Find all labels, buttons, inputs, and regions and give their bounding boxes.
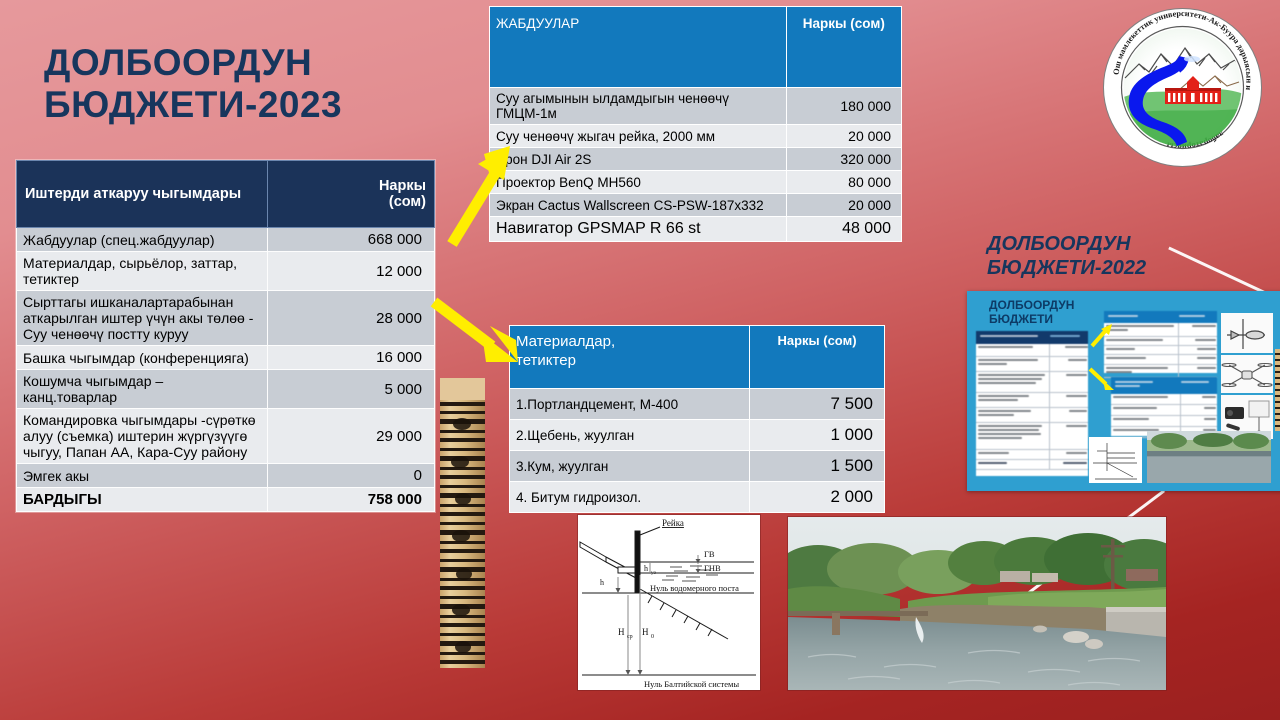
table-row: 4. Битум гидроизол.2 000 <box>510 482 885 513</box>
equipment-row-value: 80 000 <box>786 171 901 194</box>
materials-header-cost: Наркы (сом) <box>750 326 885 389</box>
thumbnail-measuring-staff <box>1275 349 1280 431</box>
page-title-line1: ДОЛБООРДУН <box>44 42 444 84</box>
equipment-table-body: Суу агымынын ылдамдыгын ченөөчү ГМЦМ-1м1… <box>490 88 902 242</box>
table-row: Башка чыгымдар (конференцияга)16 000 <box>17 346 435 370</box>
gauge-label-h-sub: h <box>644 564 648 573</box>
materials-header-line1: Материалдар, <box>516 333 743 352</box>
budget-row-label: Башка чыгымдар (конференцияга) <box>17 346 268 370</box>
budget-row-label: БАРДЫГЫ <box>17 488 268 512</box>
equipment-table-header-row: ЖАБДУУЛАР Наркы (сом) <box>490 7 902 88</box>
budget-row-label: Сырттагы ишканалартарабынан аткарылган и… <box>17 291 268 346</box>
equipment-row-value: 180 000 <box>786 88 901 125</box>
budget-header-cost: Наркы (сом) <box>267 161 434 228</box>
page-title-line2: БЮДЖЕТИ-2023 <box>44 84 444 126</box>
equipment-row-value: 20 000 <box>786 125 901 148</box>
table-row: 2.Щебень, жуулган1 000 <box>510 420 885 451</box>
equipment-row-value: 20 000 <box>786 194 901 217</box>
table-row: БАРДЫГЫ758 000 <box>17 488 435 512</box>
budget-row-value: 12 000 <box>267 252 434 291</box>
materials-table: Материалдар, тетиктер Наркы (сом) 1.Порт… <box>509 325 885 513</box>
materials-row-label: 1.Портландцемент, М-400 <box>510 389 750 420</box>
thumbnail-photo-current-meter <box>1221 313 1273 353</box>
budget-row-value: 5 000 <box>267 370 434 409</box>
equipment-row-label: Навигатор GPSMAP R 66 st <box>490 217 787 242</box>
measuring-staff-image <box>440 378 485 668</box>
budget-row-value: 0 <box>267 464 434 488</box>
equipment-row-label: Суу агымынын ылдамдыгын ченөөчү ГМЦМ-1м <box>490 88 787 125</box>
table-row: Кошумча чыгымдар – канц.товарлар5 000 <box>17 370 435 409</box>
gauge-label-zero-post: Нуль водомерного поста <box>650 583 739 593</box>
table-row: Командировка чыгымдары -сүрөткө алуу (съ… <box>17 409 435 464</box>
budget-row-value: 758 000 <box>267 488 434 512</box>
budget-header-cost-line1: Наркы <box>276 178 426 194</box>
materials-table-body: 1.Портландцемент, М-4007 5002.Щебень, жу… <box>510 389 885 513</box>
budget-row-value: 29 000 <box>267 409 434 464</box>
materials-row-label: 4. Битум гидроизол. <box>510 482 750 513</box>
budget-row-value: 16 000 <box>267 346 434 370</box>
gauge-label-h: h <box>600 578 604 587</box>
gauge-label-h-sub-index: уз <box>651 570 656 576</box>
budget-row-label: Жабдуулар (спец.жабдуулар) <box>17 228 268 252</box>
arrow-up-right-icon <box>440 140 520 250</box>
equipment-row-label: Суу ченөөчү жыгач рейка, 2000 мм <box>490 125 787 148</box>
thumbnail-photo-drone <box>1221 355 1273 393</box>
budget-row-value: 668 000 <box>267 228 434 252</box>
table-row: 1.Портландцемент, М-4007 500 <box>510 389 885 420</box>
table-row: Проектор BenQ MH56080 000 <box>490 171 902 194</box>
table-row: Суу ченөөчү жыгач рейка, 2000 мм20 000 <box>490 125 902 148</box>
gauge-label-gv: ГВ <box>704 549 715 559</box>
river-photo <box>788 517 1166 690</box>
equipment-row-label: Проектор BenQ MH560 <box>490 171 787 194</box>
equipment-row-value: 320 000 <box>786 148 901 171</box>
table-row: Дрон DJI Air 2S320 000 <box>490 148 902 171</box>
budget-2022-thumbnail[interactable]: ДОЛБООРДУН БЮДЖЕТИ <box>967 291 1280 491</box>
budget-table-body: Жабдуулар (спец.жабдуулар)668 000Материа… <box>17 228 435 512</box>
materials-row-label: 3.Кум, жуулган <box>510 451 750 482</box>
thumbnail-equipment-table <box>1104 311 1217 373</box>
equipment-header-name: ЖАБДУУЛАР <box>490 7 787 88</box>
budget-row-label: Материалдар, сырьёлор, заттар, тетиктер <box>17 252 268 291</box>
budget-table: Иштерди аткаруу чыгымдары Наркы (сом) Жа… <box>16 160 435 512</box>
budget-row-value: 28 000 <box>267 291 434 346</box>
budget-header-cost-line2: (сом) <box>276 194 426 210</box>
gauge-label-h-gr-index: ср <box>627 634 633 640</box>
budget-row-label: Командировка чыгымдары -сүрөткө алуу (съ… <box>17 409 268 464</box>
university-logo: Ош мамлекеттик университети-Ак-Буура дар… <box>1101 6 1264 169</box>
materials-row-value: 1 500 <box>750 451 885 482</box>
budget-header-expenses: Иштерди аткаруу чыгымдары <box>17 161 268 228</box>
budget-table-header-row: Иштерди аткаруу чыгымдары Наркы (сом) <box>17 161 435 228</box>
thumbnail-main-table <box>976 331 1088 476</box>
page-title: ДОЛБООРДУН БЮДЖЕТИ-2023 <box>44 42 444 126</box>
materials-header-line2: тетиктер <box>516 352 743 371</box>
thumbnail-gauge-diagram <box>1089 437 1142 483</box>
materials-table-header-row: Материалдар, тетиктер Наркы (сом) <box>510 326 885 389</box>
thumbnail-arrow-down-icon <box>1087 366 1117 392</box>
materials-row-value: 7 500 <box>750 389 885 420</box>
table-row: Суу агымынын ылдамдыгын ченөөчү ГМЦМ-1м1… <box>490 88 902 125</box>
gauge-label-zero-baltic: Нуль Балтийской системы <box>644 679 739 689</box>
thumbnail-materials-table <box>1111 377 1217 436</box>
gauge-label-h-gr: H <box>618 627 625 637</box>
materials-row-value: 1 000 <box>750 420 885 451</box>
gauge-label-h-zero: H <box>642 627 649 637</box>
budget-2022-label-line1: ДОЛБООРДУН <box>987 233 1227 257</box>
table-row: Сырттагы ишканалартарабынан аткарылган и… <box>17 291 435 346</box>
gauge-label-gnv: ГНВ <box>704 563 721 573</box>
gauge-label-h-zero-index: 0 <box>651 634 654 640</box>
budget-row-label: Эмгек акы <box>17 464 268 488</box>
arrow-down-right-icon <box>430 296 526 372</box>
water-gauge-diagram: Рейка ГВ ГНВ h уз h Нуль водомерного пос… <box>578 515 760 690</box>
thumbnail-river-photo <box>1147 431 1271 483</box>
materials-row-label: 2.Щебень, жуулган <box>510 420 750 451</box>
thumbnail-arrow-up-icon <box>1089 321 1115 349</box>
budget-row-label: Кошумча чыгымдар – канц.товарлар <box>17 370 268 409</box>
equipment-row-label: Дрон DJI Air 2S <box>490 148 787 171</box>
table-row: Жабдуулар (спец.жабдуулар)668 000 <box>17 228 435 252</box>
equipment-header-cost: Наркы (сом) <box>786 7 901 88</box>
equipment-row-value: 48 000 <box>786 217 901 242</box>
table-row: 3.Кум, жуулган1 500 <box>510 451 885 482</box>
gauge-label-reyka: Рейка <box>662 518 684 528</box>
table-row: Экран Cactus Wallscreen CS-PSW-187x33220… <box>490 194 902 217</box>
materials-header-name: Материалдар, тетиктер <box>510 326 750 389</box>
equipment-row-label: Экран Cactus Wallscreen CS-PSW-187x332 <box>490 194 787 217</box>
table-row: Эмгек акы0 <box>17 464 435 488</box>
table-row: Материалдар, сырьёлор, заттар, тетиктер1… <box>17 252 435 291</box>
materials-row-value: 2 000 <box>750 482 885 513</box>
table-row: Навигатор GPSMAP R 66 st48 000 <box>490 217 902 242</box>
equipment-table: ЖАБДУУЛАР Наркы (сом) Суу агымынын ылдам… <box>489 6 902 242</box>
